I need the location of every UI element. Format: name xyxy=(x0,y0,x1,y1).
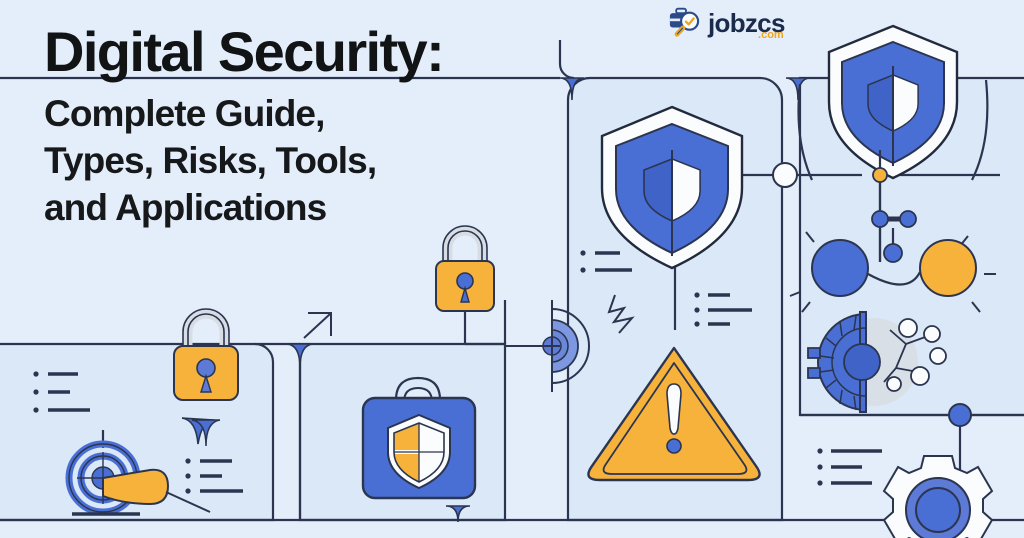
page-subtitle: Complete Guide, Types, Risks, Tools, and… xyxy=(44,91,564,231)
padlock-upper-icon xyxy=(436,226,494,311)
subtitle-line-2: Types, Risks, Tools, xyxy=(44,138,564,185)
headline-block: Digital Security: Complete Guide, Types,… xyxy=(44,22,564,231)
site-logo[interactable]: jobzcs .com xyxy=(668,6,785,40)
subtitle-line-1: Complete Guide, xyxy=(44,91,564,138)
page-title: Digital Security: xyxy=(44,22,564,81)
briefcase-magnifier-check-icon xyxy=(668,6,704,40)
subtitle-line-3: and Applications xyxy=(44,185,564,232)
arrow-up-right-icon xyxy=(304,313,331,338)
junction-node-bottom-icon xyxy=(949,404,971,426)
junction-node-icon xyxy=(773,163,797,187)
gear-bottom-right-icon xyxy=(884,456,992,538)
bullet-list-right xyxy=(817,448,882,485)
logo-wordmark: jobzcs .com xyxy=(708,10,785,36)
security-banner: .ln { fill:none; stroke:#2b3550; stroke-… xyxy=(0,0,1024,538)
logo-tld: .com xyxy=(758,30,784,41)
